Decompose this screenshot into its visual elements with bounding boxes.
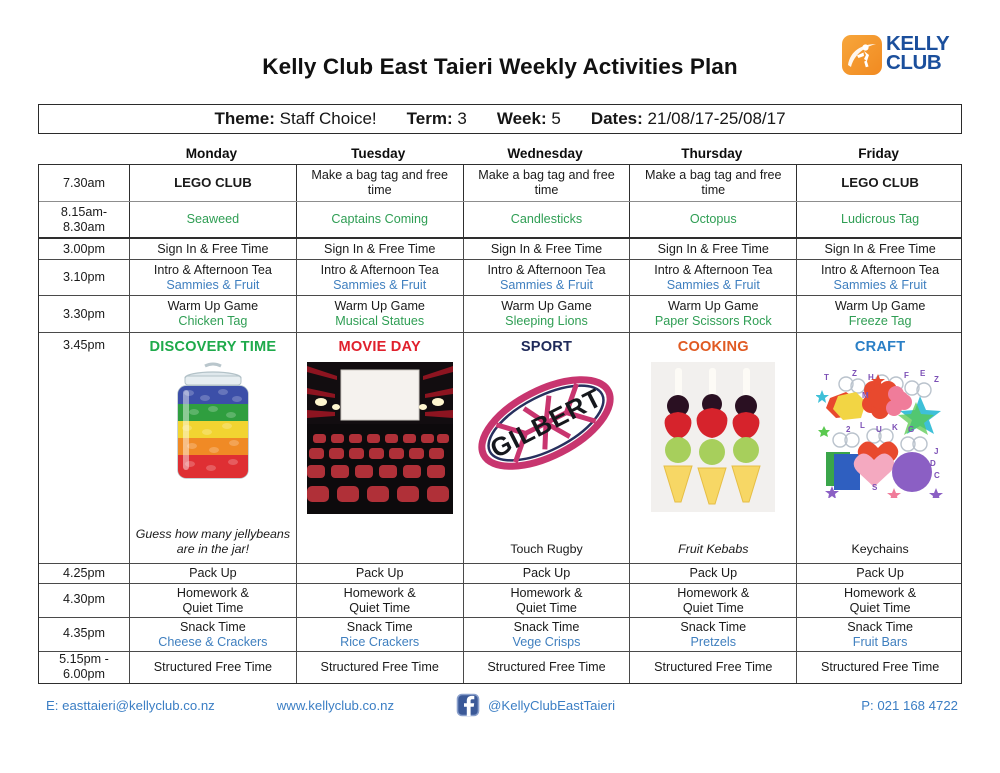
cell-sub: Sammies & Fruit — [834, 278, 927, 293]
time-label: 5.15pm - 6.00pm — [39, 652, 129, 683]
schedule-cell: Homework & Quiet Time — [796, 584, 963, 617]
schedule-cell: Homework & Quiet Time — [629, 584, 796, 617]
day-header-row: Monday Tuesday Wednesday Thursday Friday — [38, 144, 962, 164]
schedule-cell: Intro & Afternoon Tea Sammies & Fruit — [463, 260, 630, 295]
schedule-cell: Warm Up Game Chicken Tag — [129, 296, 296, 332]
svg-text:F: F — [904, 371, 909, 380]
schedule-cell: Homework & Quiet Time — [463, 584, 630, 617]
table-row: 4.35pm Snack Time Cheese & Crackers Snac… — [39, 617, 961, 651]
svg-text:M: M — [862, 391, 869, 400]
svg-text:J: J — [934, 447, 938, 456]
cell-sub: Captains Coming — [331, 212, 428, 227]
schedule-cell: Structured Free Time — [463, 652, 630, 683]
cell-line-1: Homework & — [510, 586, 582, 601]
cell-main: Structured Free Time — [487, 660, 605, 675]
svg-text:U: U — [876, 425, 882, 434]
term-group: Term: 3 — [407, 109, 467, 129]
rugby-ball-image: GILBERT — [471, 362, 621, 484]
facebook-icon[interactable] — [456, 693, 480, 717]
schedule-cell: Seaweed — [129, 202, 296, 237]
activity-caption: Guess how many jellybeans are in the jar… — [133, 527, 293, 561]
schedule-cell: Pack Up — [463, 564, 630, 583]
day-header-monday: Monday — [128, 144, 295, 164]
cell-sub: Paper Scissors Rock — [655, 314, 772, 329]
svg-text:K: K — [892, 423, 898, 432]
week-label: Week: — [497, 109, 547, 128]
schedule-cell: Pack Up — [796, 564, 963, 583]
time-line-2: 6.00pm — [63, 667, 105, 682]
cell-sub: Fruit Bars — [853, 635, 908, 650]
schedule-cell: Warm Up Game Freeze Tag — [796, 296, 963, 332]
schedule-cell: Make a bag tag and free time — [296, 165, 463, 201]
schedule-cell: Intro & Afternoon Tea Sammies & Fruit — [296, 260, 463, 295]
cell-line-2: Quiet Time — [683, 601, 744, 616]
cell-line-2: Quiet Time — [850, 601, 911, 616]
table-row: 4.30pm Homework & Quiet Time Homework & … — [39, 583, 961, 617]
footer-website[interactable]: www.kellyclub.co.nz — [277, 698, 394, 713]
kelly-club-logo-mark — [842, 35, 882, 75]
theme-group: Theme: Staff Choice! — [214, 109, 376, 129]
cell-sub: Musical Statues — [335, 314, 424, 329]
footer-facebook-handle[interactable]: @KellyClubEastTaieri — [488, 698, 615, 713]
cell-sub: Octopus — [690, 212, 737, 227]
cell-main: Structured Free Time — [821, 660, 939, 675]
schedule-cell: Structured Free Time — [796, 652, 963, 683]
activity-cell-movie-day: MOVIE DAY — [296, 333, 463, 563]
svg-text:D: D — [930, 459, 936, 468]
cell-sub: Pretzels — [691, 635, 737, 650]
schedule-cell: Snack Time Cheese & Crackers — [129, 618, 296, 651]
footer-phone: P: 021 168 4722 — [861, 698, 958, 713]
schedule-cell: LEGO CLUB — [796, 165, 963, 201]
cell-main: Snack Time — [847, 620, 913, 635]
cell-main: LEGO CLUB — [841, 175, 919, 191]
activity-title: MOVIE DAY — [339, 339, 421, 356]
cinema-image — [307, 362, 453, 514]
table-row: 5.15pm - 6.00pm Structured Free Time Str… — [39, 651, 961, 683]
svg-text:L: L — [860, 421, 865, 430]
schedule-cell: Snack Time Rice Crackers — [296, 618, 463, 651]
time-label: 7.30am — [39, 165, 129, 201]
cell-main: Snack Time — [347, 620, 413, 635]
cell-main: Warm Up Game — [168, 299, 259, 314]
activity-caption: Keychains — [852, 542, 909, 561]
schedule-cell: Make a bag tag and free time — [629, 165, 796, 201]
schedule-cell: Sign In & Free Time — [129, 239, 296, 259]
cell-main: Sign In & Free Time — [824, 242, 935, 257]
cell-main: Warm Up Game — [835, 299, 926, 314]
schedule-cell: Homework & Quiet Time — [129, 584, 296, 617]
schedule-cell: Snack Time Vege Crisps — [463, 618, 630, 651]
schedule-cell: Sign In & Free Time — [463, 239, 630, 259]
cell-main: Pack Up — [523, 566, 571, 581]
cell-sub: Sleeping Lions — [505, 314, 588, 329]
cell-sub: Sammies & Fruit — [333, 278, 426, 293]
morning-schedule-table: 7.30am LEGO CLUB Make a bag tag and free… — [38, 164, 962, 238]
schedule-cell: Sign In & Free Time — [796, 239, 963, 259]
cell-main: Structured Free Time — [654, 660, 772, 675]
dates-group: Dates: 21/08/17-25/08/17 — [591, 109, 786, 129]
time-label: 4.30pm — [39, 584, 129, 617]
dates-label: Dates: — [591, 109, 643, 128]
schedule-cell: Pack Up — [129, 564, 296, 583]
schedule-cell: Homework & Quiet Time — [296, 584, 463, 617]
cell-main: Intro & Afternoon Tea — [154, 263, 272, 278]
time-label: 3.00pm — [39, 239, 129, 259]
svg-text:2: 2 — [846, 425, 851, 434]
table-row: 3.30pm Warm Up Game Chicken Tag Warm Up … — [39, 295, 961, 332]
schedule-cell: Make a bag tag and free time — [463, 165, 630, 201]
time-label: 4.35pm — [39, 618, 129, 651]
time-label: 3.10pm — [39, 260, 129, 295]
schedule-cell: Candlesticks — [463, 202, 630, 237]
time-line-1: 5.15pm - — [59, 652, 109, 667]
activity-title: SPORT — [521, 339, 572, 356]
cell-main: Pack Up — [689, 566, 737, 581]
activity-title: CRAFT — [855, 339, 905, 356]
cell-sub: Sammies & Fruit — [667, 278, 760, 293]
svg-text:G: G — [908, 425, 914, 434]
logo-line-club: CLUB — [886, 53, 949, 72]
cell-main: Structured Free Time — [321, 660, 439, 675]
keychains-image: TZH MFE ZL2 UKG JDC S — [816, 362, 944, 498]
time-line-2: 8.30am — [63, 220, 105, 235]
term-value: 3 — [457, 109, 466, 128]
time-label: 3.30pm — [39, 296, 129, 332]
kelly-club-logo-text: KELLY CLUB — [886, 34, 949, 72]
cell-main: Pack Up — [189, 566, 237, 581]
cell-main: Warm Up Game — [501, 299, 592, 314]
cell-sub: Ludicrous Tag — [841, 212, 919, 227]
day-header-friday: Friday — [795, 144, 962, 164]
schedule-cell: Sign In & Free Time — [296, 239, 463, 259]
theme-label: Theme: — [214, 109, 274, 128]
day-header-spacer — [38, 144, 128, 164]
schedule-cell: Warm Up Game Paper Scissors Rock — [629, 296, 796, 332]
schedule-cell: Ludicrous Tag — [796, 202, 963, 237]
cell-main: Sign In & Free Time — [324, 242, 435, 257]
svg-text:S: S — [872, 483, 878, 492]
cell-main: Snack Time — [180, 620, 246, 635]
schedule-cell: LEGO CLUB — [129, 165, 296, 201]
svg-text:Z: Z — [934, 375, 939, 384]
week-group: Week: 5 — [497, 109, 561, 129]
activity-caption: Touch Rugby — [510, 542, 582, 561]
cell-main: Intro & Afternoon Tea — [821, 263, 939, 278]
svg-text:T: T — [824, 373, 829, 382]
theme-value: Staff Choice! — [280, 109, 377, 128]
schedule-cell: Pack Up — [296, 564, 463, 583]
cell-main: Pack Up — [856, 566, 904, 581]
cell-main: Warm Up Game — [668, 299, 759, 314]
schedule-cell: Octopus — [629, 202, 796, 237]
activity-cell-craft: CRAFT — [796, 333, 963, 563]
table-row: 3.45pm DISCOVERY TIME — [39, 332, 961, 563]
activity-title: DISCOVERY TIME — [149, 339, 276, 356]
jellybean-jar-image — [161, 362, 265, 490]
cell-main: Warm Up Game — [334, 299, 425, 314]
activity-cell-cooking: COOKING — [629, 333, 796, 563]
schedule-cell: Sign In & Free Time — [629, 239, 796, 259]
cell-sub: Vege Crisps — [513, 635, 581, 650]
cell-main: Make a bag tag and free time — [467, 168, 627, 198]
cell-main: Intro & Afternoon Tea — [321, 263, 439, 278]
schedule-cell: Intro & Afternoon Tea Sammies & Fruit — [629, 260, 796, 295]
footer-email[interactable]: E: easttaieri@kellyclub.co.nz — [46, 698, 215, 713]
term-label: Term: — [407, 109, 453, 128]
cell-main: Snack Time — [514, 620, 580, 635]
cell-sub: Sammies & Fruit — [166, 278, 259, 293]
cell-sub: Rice Crackers — [340, 635, 419, 650]
table-row: 4.25pm Pack Up Pack Up Pack Up Pack Up P… — [39, 563, 961, 583]
cell-main: Snack Time — [680, 620, 746, 635]
day-header-wednesday: Wednesday — [462, 144, 629, 164]
cell-main: Intro & Afternoon Tea — [487, 263, 605, 278]
cell-sub: Seaweed — [187, 212, 240, 227]
cell-line-1: Homework & — [344, 586, 416, 601]
schedule-cell: Structured Free Time — [296, 652, 463, 683]
page-footer: E: easttaieri@kellyclub.co.nz www.kellyc… — [38, 692, 962, 718]
table-row: 3.10pm Intro & Afternoon Tea Sammies & F… — [39, 259, 961, 295]
cell-sub: Cheese & Crackers — [158, 635, 267, 650]
cell-main: Structured Free Time — [154, 660, 272, 675]
svg-text:E: E — [920, 369, 926, 378]
kelly-club-logo: KELLY CLUB — [842, 33, 962, 77]
activity-caption: Fruit Kebabs — [678, 542, 748, 561]
schedule-cell: Captains Coming — [296, 202, 463, 237]
dates-value: 21/08/17-25/08/17 — [648, 109, 786, 128]
cell-sub: Sammies & Fruit — [500, 278, 593, 293]
afternoon-schedule-table: 3.00pm Sign In & Free Time Sign In & Fre… — [38, 238, 962, 684]
cell-main: Sign In & Free Time — [491, 242, 602, 257]
cell-main: LEGO CLUB — [174, 175, 252, 191]
activity-cell-discovery-time: DISCOVERY TIME — [129, 333, 296, 563]
cell-main: Pack Up — [356, 566, 404, 581]
cell-sub: Freeze Tag — [849, 314, 912, 329]
activity-cell-sport: SPORT — [463, 333, 630, 563]
time-label: 8.15am- 8.30am — [39, 202, 129, 237]
fruit-kebabs-image — [651, 362, 775, 512]
cell-line-1: Homework & — [177, 586, 249, 601]
cell-sub: Candlesticks — [511, 212, 582, 227]
svg-text:H: H — [868, 373, 874, 382]
cell-main: Make a bag tag and free time — [633, 168, 793, 198]
page-header: Kelly Club East Taieri Weekly Activities… — [0, 0, 1000, 96]
cell-sub: Chicken Tag — [178, 314, 247, 329]
time-label: 4.25pm — [39, 564, 129, 583]
schedule-cell: Warm Up Game Sleeping Lions — [463, 296, 630, 332]
cell-line-2: Quiet Time — [349, 601, 410, 616]
week-value: 5 — [551, 109, 560, 128]
day-header-tuesday: Tuesday — [295, 144, 462, 164]
activity-title: COOKING — [678, 339, 749, 356]
schedule-cell: Structured Free Time — [629, 652, 796, 683]
schedule-cell: Snack Time Fruit Bars — [796, 618, 963, 651]
schedule-cell: Intro & Afternoon Tea Sammies & Fruit — [796, 260, 963, 295]
cell-main: Sign In & Free Time — [658, 242, 769, 257]
cell-main: Make a bag tag and free time — [300, 168, 460, 198]
svg-text:C: C — [934, 471, 940, 480]
table-row: 7.30am LEGO CLUB Make a bag tag and free… — [39, 165, 961, 201]
theme-bar: Theme: Staff Choice! Term: 3 Week: 5 Dat… — [38, 104, 962, 134]
cell-main: Sign In & Free Time — [157, 242, 268, 257]
table-row: 3.00pm Sign In & Free Time Sign In & Fre… — [39, 239, 961, 259]
time-line-1: 8.15am- — [61, 205, 107, 220]
cell-main: Intro & Afternoon Tea — [654, 263, 772, 278]
cell-line-2: Quiet Time — [516, 601, 577, 616]
svg-text:Z: Z — [852, 369, 857, 378]
schedule-cell: Pack Up — [629, 564, 796, 583]
cell-line-1: Homework & — [677, 586, 749, 601]
schedule-cell: Structured Free Time — [129, 652, 296, 683]
day-header-thursday: Thursday — [628, 144, 795, 164]
activities-plan-page: Kelly Club East Taieri Weekly Activities… — [0, 0, 1000, 773]
schedule-cell: Snack Time Pretzels — [629, 618, 796, 651]
cell-line-2: Quiet Time — [182, 601, 243, 616]
time-label: 3.45pm — [39, 333, 129, 563]
schedule-cell: Intro & Afternoon Tea Sammies & Fruit — [129, 260, 296, 295]
table-row: 8.15am- 8.30am Seaweed Captains Coming C… — [39, 201, 961, 237]
cell-line-1: Homework & — [844, 586, 916, 601]
schedule-cell: Warm Up Game Musical Statues — [296, 296, 463, 332]
